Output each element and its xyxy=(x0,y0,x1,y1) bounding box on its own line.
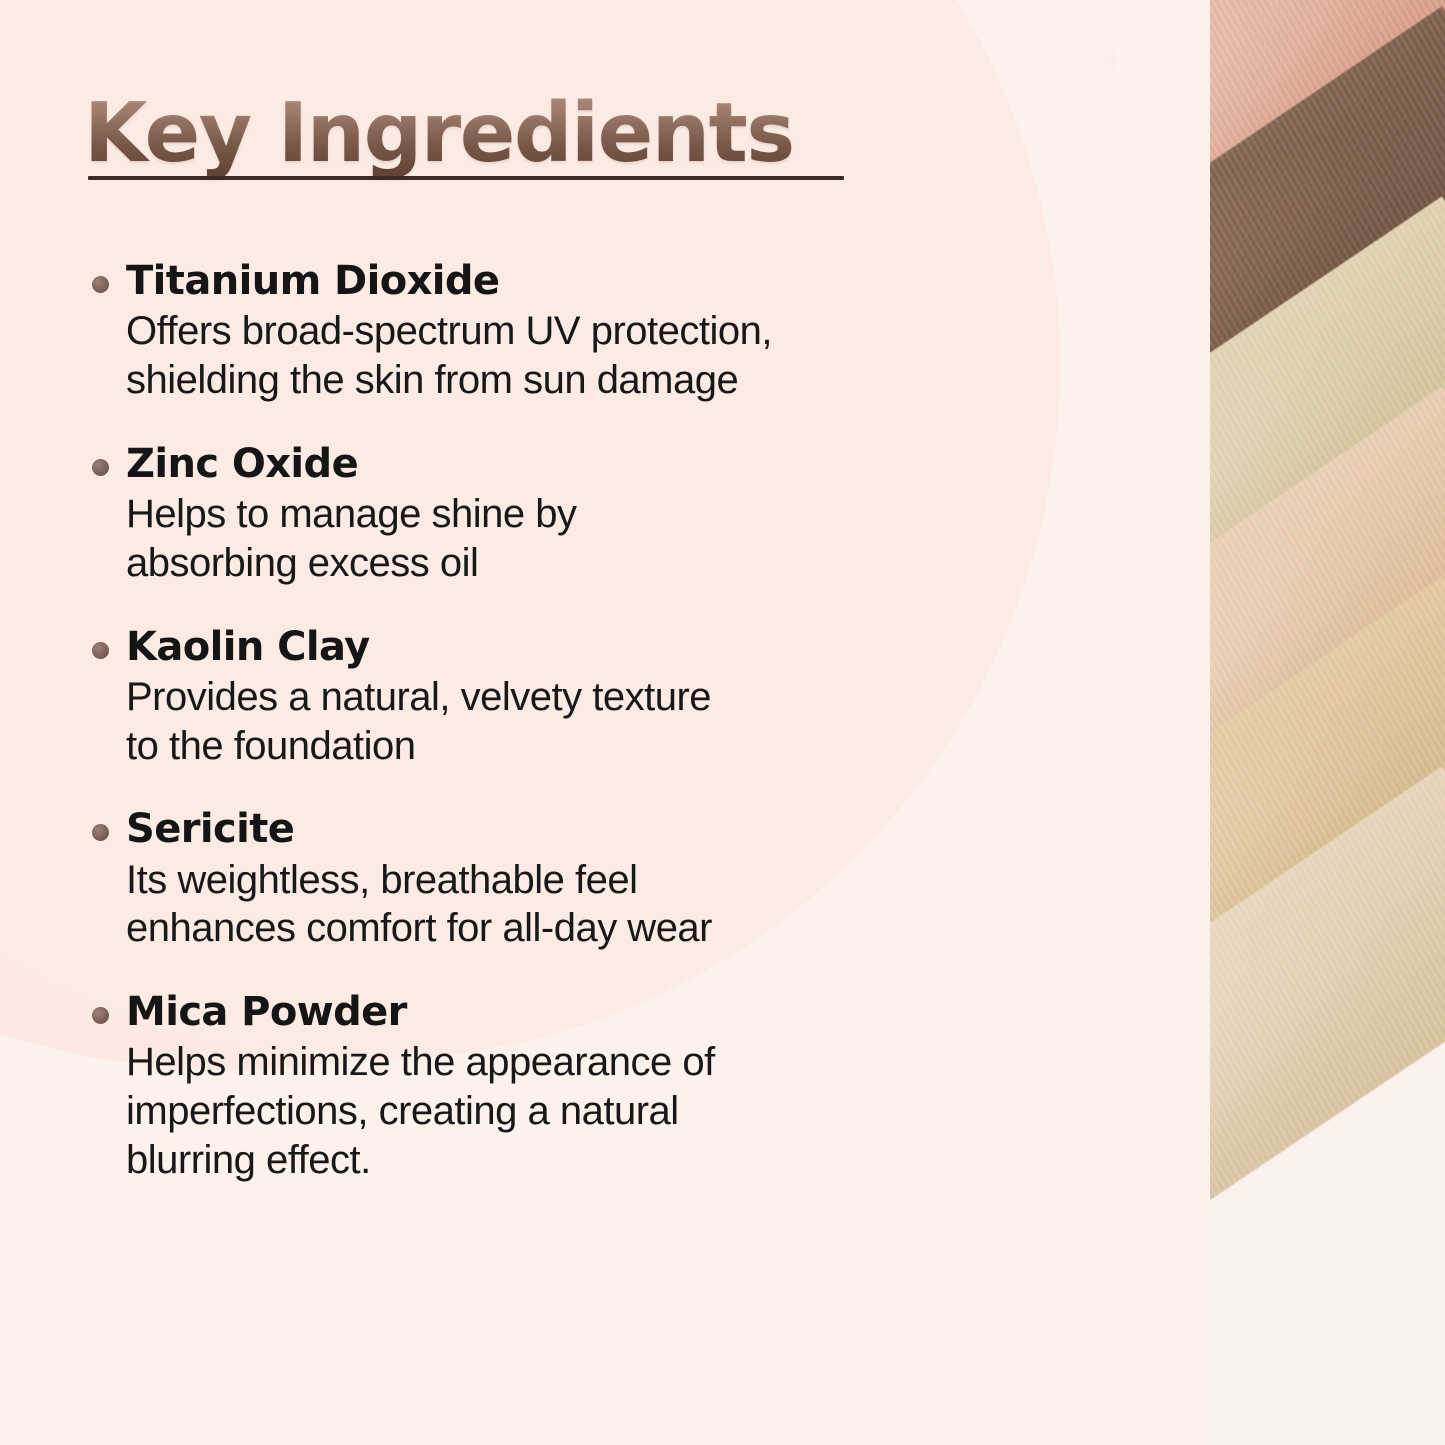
powder-swatch-photo xyxy=(1090,0,1445,1445)
ingredient-name: Sericite xyxy=(126,806,984,853)
ingredient-name: Zinc Oxide xyxy=(126,441,984,488)
list-item: Sericite Its weightless, breathable feel… xyxy=(84,806,984,953)
key-ingredients-infographic: Key Ingredients Titanium Dioxide Offers … xyxy=(0,0,1445,1445)
ingredient-list: Titanium Dioxide Offers broad-spectrum U… xyxy=(84,258,984,1185)
ingredient-description: Provides a natural, velvety texture to t… xyxy=(126,673,984,771)
list-item: Zinc Oxide Helps to manage shine by abso… xyxy=(84,441,984,588)
content-column: Key Ingredients Titanium Dioxide Offers … xyxy=(0,0,1030,1445)
ingredient-name: Mica Powder xyxy=(126,989,984,1036)
bullet-dot-icon xyxy=(92,642,109,659)
ingredient-description: Helps to manage shine by absorbing exces… xyxy=(126,490,984,588)
bullet-dot-icon xyxy=(92,459,109,476)
page-title-wrap: Key Ingredients xyxy=(84,92,864,176)
bullet-dot-icon xyxy=(92,276,109,293)
ingredient-description: Offers broad-spectrum UV protection, shi… xyxy=(126,307,984,405)
ingredient-description: Its weightless, breathable feel enhances… xyxy=(126,856,984,954)
list-item: Titanium Dioxide Offers broad-spectrum U… xyxy=(84,258,984,405)
ingredient-description: Helps minimize the appearance of imperfe… xyxy=(126,1038,984,1184)
page-title: Key Ingredients xyxy=(84,92,864,176)
powder-bands xyxy=(1090,0,1445,1445)
list-item: Kaolin Clay Provides a natural, velvety … xyxy=(84,624,984,771)
bullet-dot-icon xyxy=(92,824,109,841)
ingredient-name: Kaolin Clay xyxy=(126,624,984,671)
bullet-dot-icon xyxy=(92,1007,109,1024)
list-item: Mica Powder Helps minimize the appearanc… xyxy=(84,989,984,1185)
title-underline xyxy=(88,176,844,180)
ingredient-name: Titanium Dioxide xyxy=(126,258,984,305)
